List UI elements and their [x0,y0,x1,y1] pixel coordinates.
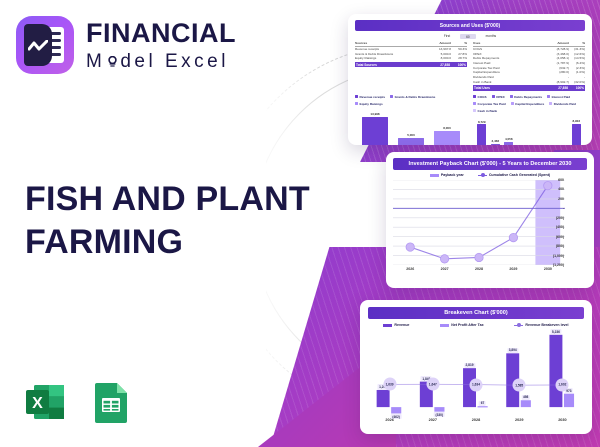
x-axis-tick-label: 2028 [462,267,496,271]
microsoft-excel-icon: X [22,379,68,425]
x-axis-tick-label: 2026 [368,418,411,422]
sources-header-pct: % [451,41,467,45]
table-row: Revenue receipts13,997.850.3% [355,47,467,52]
legend-swatch-icon [492,95,495,98]
legend-swatch-icon [355,102,358,105]
legend-item: COGS [473,95,487,99]
file-format-icons: X [22,379,134,425]
y-axis-tick-label: 400 [558,187,564,191]
brand-lockup: FINANCIAL M del Excel [16,16,236,74]
bar-column: 8,903 [570,115,584,145]
legend-item: Corporate Tax Paid [473,102,506,106]
sources-chart: Revenue receiptsGrants & Debts Drawdowns… [355,93,467,145]
legend-swatch-icon [549,102,552,105]
legend-swatch-net-profit-icon [440,324,449,327]
uses-header-pct: % [569,41,585,45]
sources-column: Sources Amount % Revenue receipts13,997.… [355,41,467,91]
table-row: Cash in Bank(8,902.7)(32.0%) [473,80,585,85]
legend-swatch-icon [511,102,514,105]
bar-value-label: 8,903 [572,119,580,123]
legend-label-cumulative-cash: Cumulative Cash Generated (Spent) [489,173,550,177]
revenue-value-label: 3,894 [507,348,518,353]
bar-value-label: 13,998 [370,112,379,116]
uses-legend: COGSOPEXDebts RepaymentsInterest PaidCor… [473,95,585,113]
uses-column: Uses Amount % COGS(8,728.9)(31.3%)OPEX(3… [473,41,585,91]
sources-total-amount: 27,858 [428,63,450,67]
x-axis-tick-label: 2030 [531,267,565,271]
bar-column: 280 [543,115,557,145]
bar-column: 8,000 [429,108,465,145]
uses-total-name: Total Uses [474,86,546,90]
breakeven-svg [368,329,584,417]
y-axis-tick-label: (600) [556,235,564,239]
y-axis-tick-label: (800) [556,244,564,248]
sources-total-pct: 100% [450,63,466,67]
breakeven-legend: Revenue Net Profit After Tax Revenue Bre… [368,323,584,327]
x-axis-tick-label: 2026 [393,267,427,271]
legend-label-payback-year: Payback year [441,173,464,177]
investment-payback-svg [393,180,565,265]
investment-payback-title: Investment Payback Chart ($'000) - 5 Yea… [393,158,587,170]
legend-swatch-icon [390,95,393,98]
bar-column: 4,058 [502,115,516,145]
period-suffix: months [486,34,496,39]
investment-payback-x-axis: 20262027202820292030 [393,267,565,271]
x-axis-tick-label: 2027 [427,267,461,271]
uses-total-pct: 100% [568,86,584,90]
bar-value-label: 5,000 [407,133,415,137]
table-row: Capital Expenditure(280.0)(1.0%) [473,70,585,75]
legend-item: Interest Paid [547,95,570,99]
bar-value-label: 3,468 [491,139,499,143]
legend-item-net-profit: Net Profit After Tax [440,323,483,327]
legend-swatch-breakeven-line-icon [514,325,523,326]
sources-and-uses-title: Sources and Uses ($'000) [355,20,585,31]
investment-payback-legend: Payback year Cumulative Cash Generated (… [393,173,587,177]
breakeven-title: Breakeven Chart ($'000) [368,307,584,319]
period-selector[interactable]: First 60 months [355,34,585,39]
sources-uses-columns: Sources Amount % Revenue receipts13,997.… [355,41,585,91]
legend-label-revenue: Revenue [394,323,409,327]
x-axis-tick-label: 2029 [498,418,541,422]
sources-uses-charts: Revenue receiptsGrants & Debts Drawdowns… [355,93,585,145]
investment-payback-plot: 600400200-(200)(400)(600)(800)(1,000)(1,… [393,180,565,265]
x-axis-tick-label: 2029 [496,267,530,271]
table-row: Interest Paid(1,787.9)(6.4%) [473,61,585,66]
bar-column: 633 [529,115,543,145]
sources-and-uses-card[interactable]: Sources and Uses ($'000) First 60 months… [348,14,592,145]
y-axis-tick-label: 600 [558,178,564,182]
svg-text:X: X [32,395,43,412]
uses-bar-chart: 8,7293,4684,0581,788633280-8,903 [473,115,585,145]
sources-total-row: Total Sources 27,858 100% [355,62,467,68]
sources-header-name: Sources [355,41,429,45]
investment-payback-card[interactable]: Investment Payback Chart ($'000) - 5 Yea… [386,152,594,288]
legend-swatch-bar-icon [430,174,439,177]
bar-column: 8,729 [475,115,489,145]
legend-item-cumulative-cash: Cumulative Cash Generated (Spent) [478,173,550,177]
legend-item: OPEX [492,95,505,99]
page-title: FISH AND PLANT FARMING [25,178,310,264]
legend-swatch-icon [473,102,476,105]
bar-value-label: 8,729 [478,120,486,124]
y-axis-tick-label: (400) [556,225,564,229]
x-axis-tick-label: 2030 [541,418,584,422]
google-sheets-icon [88,379,134,425]
y-axis-tick-label: 200 [558,197,564,201]
table-row: OPEX(3,468.0)(12.6%) [473,51,585,56]
table-row: Corporate Tax Paid(632.7)(2.3%) [473,65,585,70]
legend-label-net-profit: Net Profit After Tax [451,323,483,327]
net-profit-value-label: (462) [391,414,402,419]
brand-sub-right: del Excel [120,52,229,71]
legend-item: Grants & Debts Drawdowns [390,95,435,99]
bulb-o-icon [107,56,118,68]
bar-column: 5,000 [393,108,429,145]
investment-payback-y-axis: 600400200-(200)(400)(600)(800)(1,000)(1,… [543,180,565,265]
breakeven-value-bubble: 1,634 [470,378,483,391]
brand-name-secondary: M del Excel [86,52,236,71]
table-row: Dividends Paid-- [473,75,585,80]
net-profit-value-label: 498 [521,395,530,400]
y-axis-tick-label: (200) [556,216,564,220]
legend-item: Equity Raisings [355,102,383,106]
legend-item-payback-year: Payback year [430,173,464,177]
legend-item-breakeven-level: Revenue Breakeven level [514,323,568,327]
bar [362,117,387,145]
bar [477,124,486,145]
uses-chart: COGSOPEXDebts RepaymentsInterest PaidCor… [473,93,585,145]
breakeven-value-bubble: 1,647 [426,378,439,391]
net-profit-value-label: 67 [479,401,486,406]
legend-swatch-line-icon [478,175,487,176]
net-profit-value-label: (330) [434,412,445,417]
uses-total-amount: 27,858 [546,86,568,90]
breakeven-plot: 1,240(462)1,6391,848(330)1,6472,819671,6… [368,329,584,417]
breakeven-value-bubble: 1,585 [513,379,526,392]
bar [398,138,423,145]
legend-item: Revenue receipts [355,95,385,99]
page-title-line-2: FARMING [25,221,310,264]
uses-total-row: Total Uses 27,858 100% [473,85,585,91]
legend-swatch-icon [547,95,550,98]
revenue-value-label: 2,819 [464,363,475,368]
bar [504,142,513,145]
x-axis-tick-label: 2027 [411,418,454,422]
breakeven-value-bubble: 1,639 [383,378,396,391]
period-value[interactable]: 60 [460,34,476,39]
y-axis-tick-label: (1,000) [553,254,564,258]
y-axis-tick-label: (1,200) [553,263,564,267]
financial-model-excel-logo-icon [16,16,74,74]
breakeven-card[interactable]: Breakeven Chart ($'000) Revenue Net Prof… [360,300,592,434]
revenue-value-label: 5,236 [550,329,561,334]
table-row: COGS(8,728.9)(31.3%) [473,47,585,52]
bar-column: 3,468 [489,115,503,145]
x-axis-tick-label: 2028 [454,418,497,422]
bar-column: - [556,115,570,145]
period-prefix: First [444,34,450,39]
bar-column: 13,998 [357,108,393,145]
uses-rows: COGS(8,728.9)(31.3%)OPEX(3,468.0)(12.6%)… [473,47,585,85]
y-axis-tick-label: - [563,206,564,210]
legend-label-breakeven-level: Revenue Breakeven level [525,323,568,327]
uses-header-name: Uses [473,41,547,45]
breakeven-value-bubble: 1,602 [556,378,569,391]
table-row: Grants & Debts Drawdowns5,000.027.8% [355,51,467,56]
legend-item: Capital Expenditure [511,102,545,106]
chart-spark-icon [28,40,48,52]
legend-item: Debts Repayments [510,95,542,99]
uses-header-amount: Amount [547,41,569,45]
sources-legend: Revenue receiptsGrants & Debts Drawdowns… [355,95,467,106]
legend-swatch-icon [473,95,476,98]
bar-column: 1,788 [516,115,530,145]
bar-value-label: 4,058 [505,137,513,141]
legend-item-revenue: Revenue [383,323,409,327]
sources-bar-chart: 13,9985,0008,000 [355,108,467,145]
bar [572,124,581,145]
sources-total-name: Total Sources [356,63,428,67]
bar [491,144,500,145]
sources-header-amount: Amount [429,41,451,45]
table-row: Debts Repayments(4,058.1)(14.5%) [473,56,585,61]
legend-swatch-icon [473,109,476,112]
bar-value-label: 8,000 [443,126,451,130]
bar [434,131,459,145]
table-row: Equity Raisings8,000.028.7% [355,56,467,61]
legend-swatch-icon [355,95,358,98]
legend-item: Dividends Paid [549,102,576,106]
legend-swatch-revenue-icon [383,324,392,327]
legend-swatch-icon [510,95,513,98]
brand-name-primary: FINANCIAL [86,20,236,47]
legend-item: Cash in Bank [473,109,497,113]
page-title-line-1: FISH AND PLANT [25,178,310,221]
brand-sub-left: M [86,52,105,71]
sources-rows: Revenue receipts13,997.850.3%Grants & De… [355,47,467,61]
